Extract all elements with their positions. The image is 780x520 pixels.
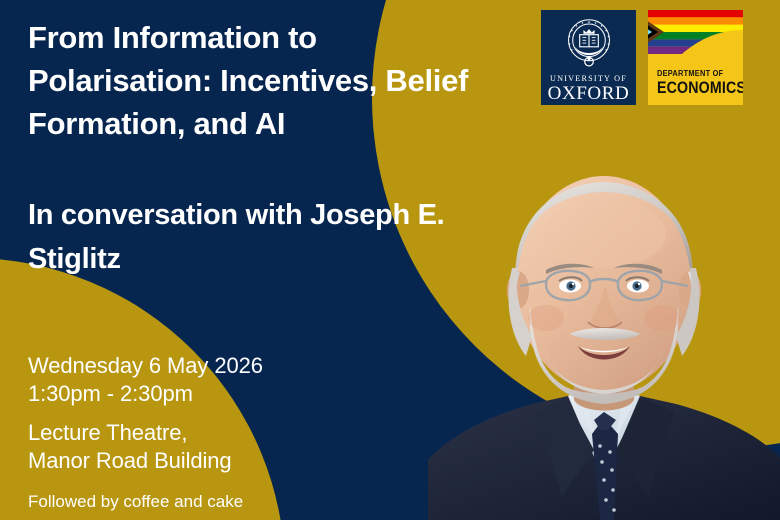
poster-title: From Information to Polarisation: Incent… — [28, 16, 498, 145]
event-date: Wednesday 6 May 2026 — [28, 352, 328, 380]
event-details: Wednesday 6 May 2026 1:30pm - 2:30pm Lec… — [28, 352, 328, 513]
oxford-crest-icon — [560, 17, 618, 71]
progress-pride-flag-icon — [648, 10, 743, 54]
event-footnote: Followed by coffee and cake — [28, 491, 328, 513]
portrait-illustration — [428, 150, 780, 520]
university-of-oxford-logo: UNIVERSITY OF OXFORD — [541, 10, 636, 105]
economics-logo-line1: DEPARTMENT OF — [657, 68, 723, 78]
logo-group: UNIVERSITY OF OXFORD — [541, 10, 743, 105]
oxford-logo-line2: OXFORD — [548, 83, 630, 105]
economics-logo-line2: ECONOMICS — [657, 79, 743, 98]
department-of-economics-logo: DEPARTMENT OF ECONOMICS — [648, 10, 743, 105]
event-venue-line2: Manor Road Building — [28, 447, 328, 475]
event-venue-line1: Lecture Theatre, — [28, 419, 328, 447]
poster-subtitle: In conversation with Joseph E. Stiglitz — [28, 193, 458, 281]
speaker-portrait — [428, 150, 780, 520]
event-time: 1:30pm - 2:30pm — [28, 380, 328, 408]
oxford-logo-line1: UNIVERSITY OF — [550, 74, 627, 83]
event-poster: From Information to Polarisation: Incent… — [0, 0, 780, 520]
